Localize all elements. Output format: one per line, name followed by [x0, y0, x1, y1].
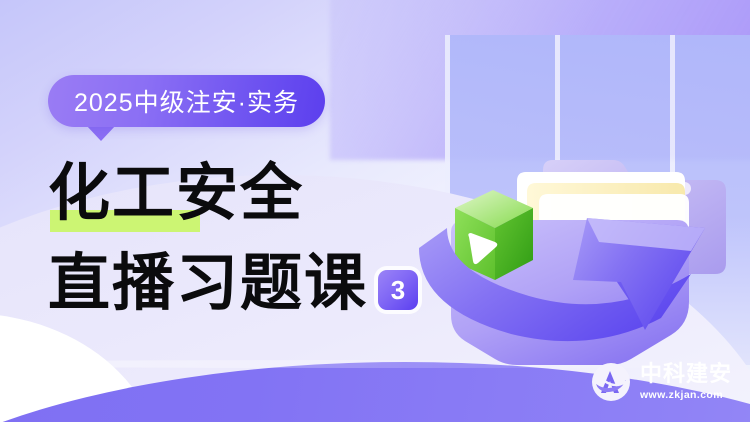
headline-row-1: 化工安全 — [48, 150, 418, 226]
mountain-circle-icon — [591, 362, 631, 402]
course-category-pill: 2025中级注安·实务 — [48, 75, 325, 127]
course-category-label: 2025中级注安·实务 — [74, 83, 299, 119]
brand-logo: 中科建安 www.zkjan.com — [591, 362, 732, 402]
brand-wordmark: 中科建安 www.zkjan.com — [640, 364, 732, 401]
course-banner: 2025中级注安·实务 化工安全 直播习题课 3 中科建安 www.zkjan.… — [0, 0, 750, 422]
brand-url: www.zkjan.com — [640, 390, 732, 401]
illustration-svg — [405, 40, 750, 370]
headline-line-1: 化工安全 — [48, 160, 304, 226]
brand-name: 中科建安 — [640, 364, 732, 386]
headline-line-2: 直播习题课 — [48, 250, 368, 316]
folder-arrow-illustration — [405, 40, 750, 370]
pill-tail — [86, 125, 116, 141]
episode-number: 3 — [391, 277, 405, 303]
headline-row-2: 直播习题课 3 — [48, 240, 418, 316]
headline-block: 化工安全 直播习题课 3 — [48, 150, 418, 316]
episode-number-badge: 3 — [378, 270, 418, 310]
